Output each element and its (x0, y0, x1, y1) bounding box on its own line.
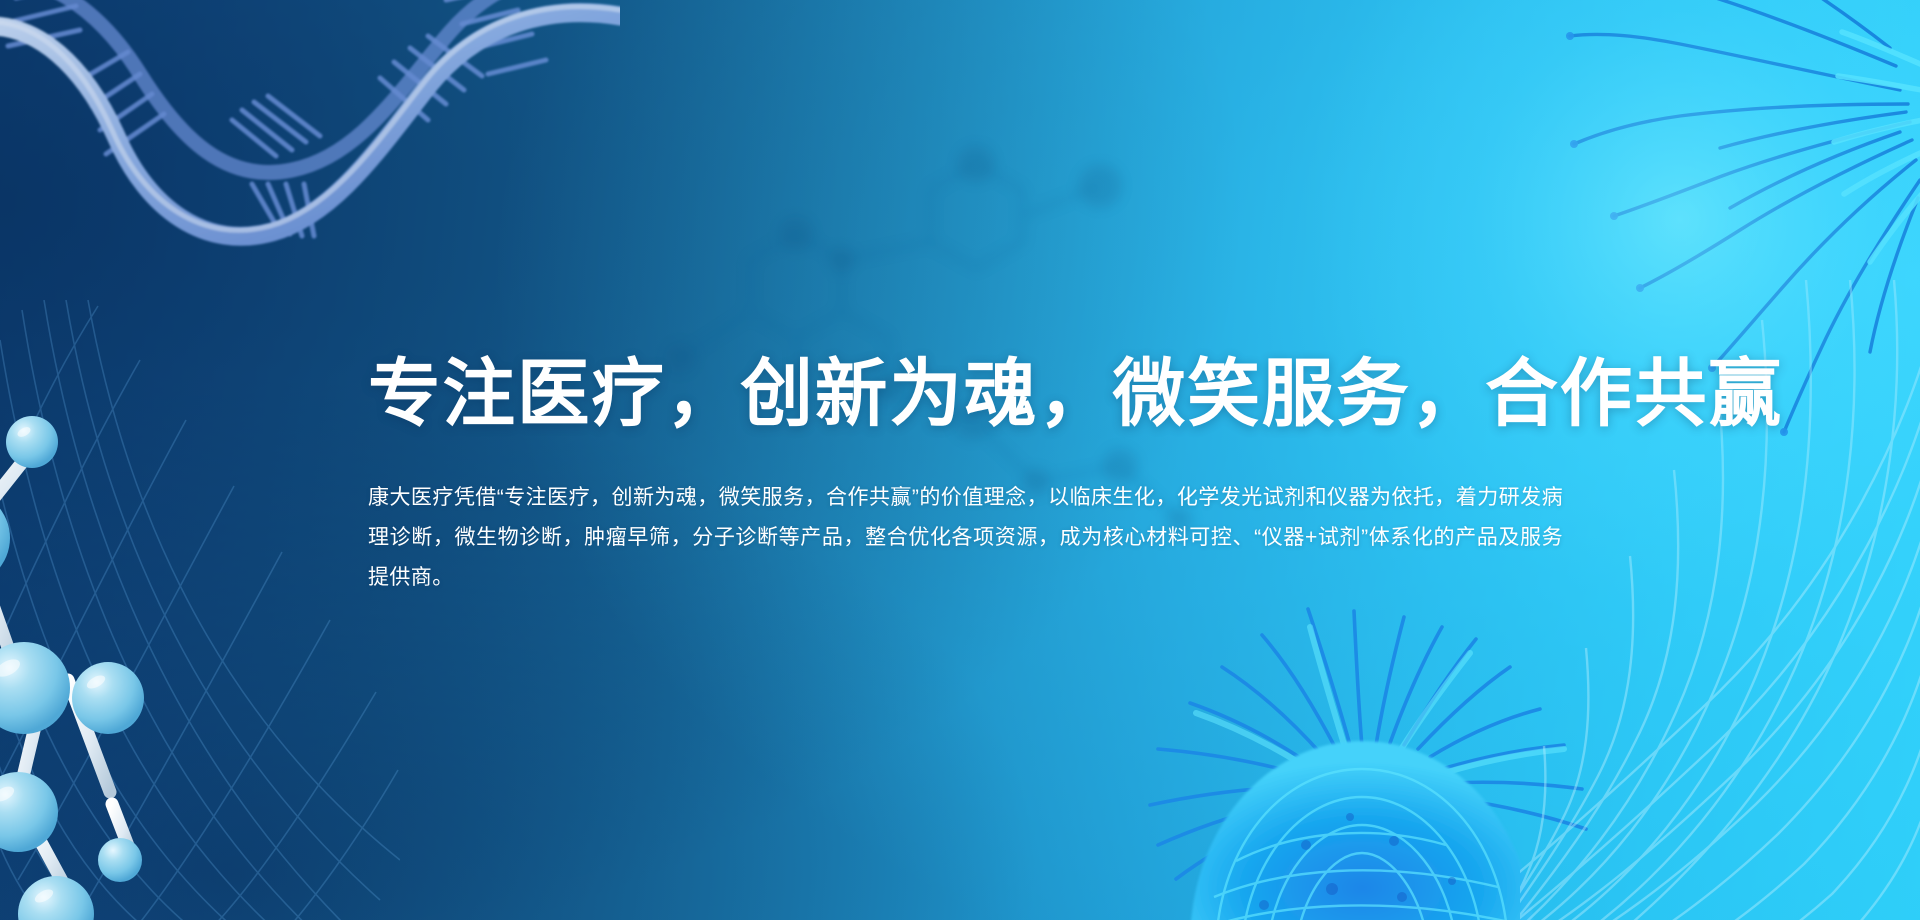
banner-description: 康大医疗凭借“专注医疗，创新为魂，微笑服务，合作共赢”的价值理念，以临床生化，化… (368, 478, 1563, 598)
banner-text-block: 专注医疗，创新为魂，微笑服务，合作共赢 康大医疗凭借“专注医疗，创新为魂，微笑服… (368, 352, 1563, 598)
hero-banner: 专注医疗，创新为魂，微笑服务，合作共赢 康大医疗凭借“专注医疗，创新为魂，微笑服… (0, 0, 1920, 920)
banner-headline: 专注医疗，创新为魂，微笑服务，合作共赢 (368, 352, 1539, 436)
